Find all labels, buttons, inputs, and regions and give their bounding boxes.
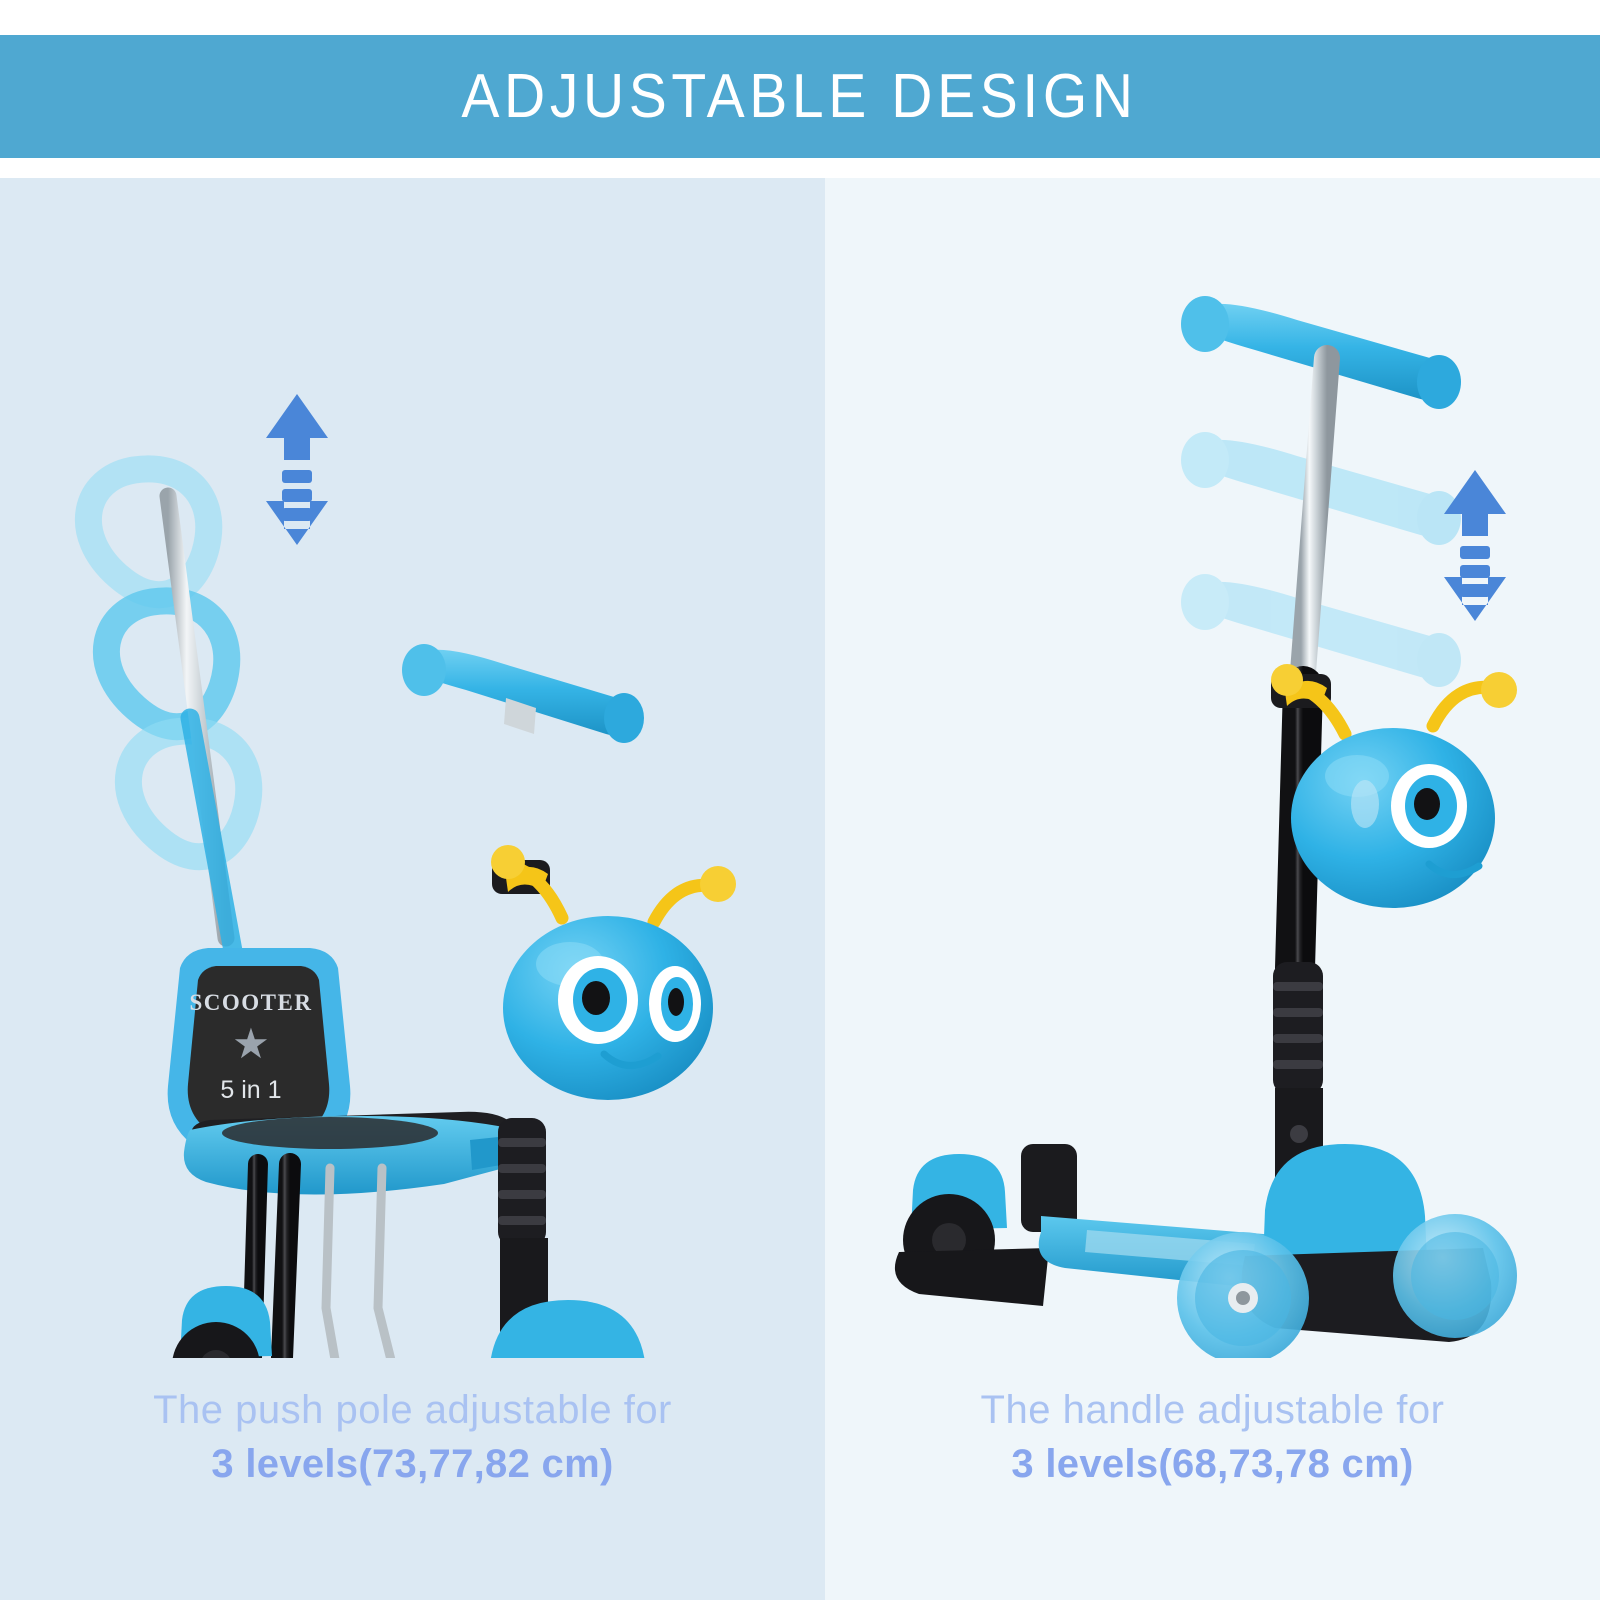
caption-left: The push pole adjustable for 3 levels(73… <box>0 1383 825 1491</box>
handlebar-grips <box>402 644 644 743</box>
seat-support-legs <box>252 1164 400 1358</box>
badge-brand-text: SCOOTER <box>190 990 313 1015</box>
bug-eye-right <box>649 966 701 1042</box>
infographic-page: ADJUSTABLE DESIGN <box>0 0 1600 1600</box>
caption-right-line1: The handle adjustable for <box>825 1383 1600 1437</box>
front-wheel-assembly-right <box>1177 1144 1517 1358</box>
scooter-handle-heights-svg <box>825 178 1600 1358</box>
antenna-right-ball <box>700 866 736 902</box>
push-pole-ring-position-2 <box>106 601 226 727</box>
product-illustration-right <box>825 178 1600 1328</box>
product-illustration-left: SCOOTER ★ 5 in 1 <box>0 178 825 1328</box>
scooter-with-seat-svg: SCOOTER ★ 5 in 1 <box>0 178 825 1358</box>
badge-star-icon: ★ <box>232 1020 270 1067</box>
adjust-arrow-right <box>1430 466 1520 626</box>
bug-eye-left-right-panel <box>1391 764 1467 848</box>
caption-left-line1: The push pole adjustable for <box>0 1383 825 1437</box>
header-banner: ADJUSTABLE DESIGN <box>0 35 1600 158</box>
adjust-arrow-left <box>252 390 342 550</box>
panel-push-pole: SCOOTER ★ 5 in 1 <box>0 178 825 1600</box>
scooter-seat <box>184 1112 544 1195</box>
caption-left-line2: 3 levels(73,77,82 cm) <box>0 1437 825 1491</box>
caption-right-line2: 3 levels(68,73,78 cm) <box>825 1437 1600 1491</box>
panel-handle: The handle adjustable for 3 levels(68,73… <box>825 178 1600 1600</box>
badge-sub-text: 5 in 1 <box>220 1076 281 1104</box>
caption-right: The handle adjustable for 3 levels(68,73… <box>825 1383 1600 1491</box>
stem-folding-joint-right <box>1273 962 1323 1094</box>
page-title: ADJUSTABLE DESIGN <box>462 66 1138 128</box>
antenna-left-ball <box>491 845 525 879</box>
push-pole-ring-position-3 <box>88 469 208 595</box>
bug-eye-left <box>558 956 638 1044</box>
bug-eye-right-right-panel <box>1351 780 1379 828</box>
stem-folding-joint <box>498 1118 546 1246</box>
comparison-panels: SCOOTER ★ 5 in 1 <box>0 178 1600 1600</box>
front-wheel-assembly <box>404 1300 734 1358</box>
